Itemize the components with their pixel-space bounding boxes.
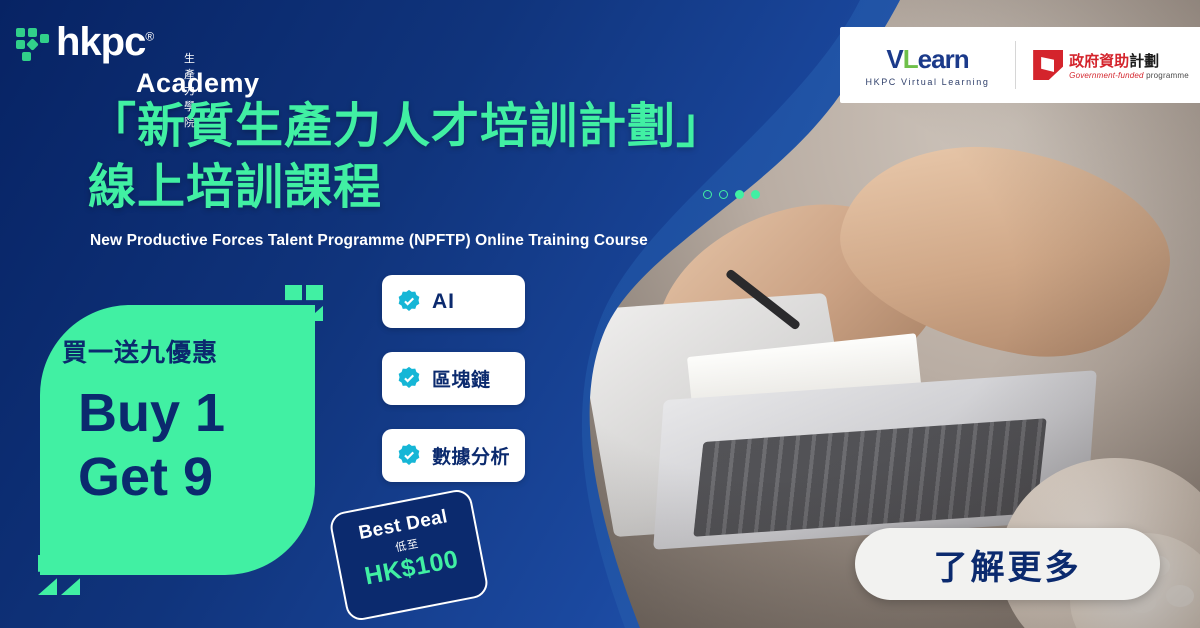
topic-pill-blockchain[interactable]: 區塊鏈 [382,352,525,405]
check-badge-icon [396,289,422,315]
vlearn-badge: VLearn HKPC Virtual Learning [840,44,1015,87]
topic-pill-data-analytics[interactable]: 數據分析 [382,429,525,482]
check-badge-icon [396,366,422,392]
government-funded-text: 政府資助計劃 Government-funded programme [1069,50,1189,80]
hkpc-logo-mark-icon [16,28,50,62]
government-funded-badge-icon [1033,50,1063,80]
seal-text: Best Deal 低至 HK$100 [328,487,490,622]
gov-zh-dark: 計劃 [1129,53,1159,70]
vlearn-title-hook: L [903,44,918,74]
chevron-decoration-bottom-icon [38,555,80,595]
topic-pill-label: AI [432,290,455,314]
promo-banner: hkpc® Academy 生產力學院 VLearn HKPC Virtual … [0,0,1200,628]
topic-pill-label: 區塊鏈 [432,365,491,392]
dot-solid [751,190,760,199]
best-deal-seal: Best Deal 低至 HK$100 [337,500,481,610]
hkpc-wordmark-text: hkpc [56,20,145,64]
topic-pill-label: 數據分析 [432,442,510,469]
headline-line-1: 「新質生產力人才培訓計劃」 [88,100,725,153]
vlearn-title-post: earn [918,44,969,74]
government-funded-badge: 政府資助計劃 Government-funded programme [1016,50,1200,80]
subtitle: New Productive Forces Talent Programme (… [90,232,648,250]
learn-more-button[interactable]: 了解更多 [855,528,1160,600]
dot-solid [735,190,744,199]
offer-en-line-2: Get 9 [78,447,213,507]
offer-zh-label: 買一送九優惠 [62,333,218,369]
decorative-dots [703,190,760,199]
vlearn-title-pre: V [886,44,902,74]
dot-hollow [719,190,728,199]
government-funded-zh: 政府資助計劃 [1069,50,1189,71]
gov-en-rest: programme [1146,71,1189,80]
chevron-decoration-top-icon [285,285,323,321]
partner-badges: VLearn HKPC Virtual Learning 政府資助計劃 Gove… [840,27,1200,103]
headline-line-2: 線上培訓課程 [88,157,725,218]
government-funded-en: Government-funded programme [1069,71,1189,80]
check-badge-icon [396,443,422,469]
dot-hollow [703,190,712,199]
registered-mark: ® [145,30,153,44]
topic-pill-list: AI 區塊鏈 數據分析 [382,275,525,482]
topic-pill-ai[interactable]: AI [382,275,525,328]
hkpc-wordmark: hkpc® [56,22,153,62]
hkpc-academy-logo: hkpc® Academy 生產力學院 [16,22,153,62]
gov-en-italic: Government-funded [1069,71,1144,80]
offer-en-label: Buy 1 Get 9 [78,382,225,509]
offer-en-line-1: Buy 1 [78,383,225,443]
learn-more-label: 了解更多 [934,540,1082,589]
vlearn-subtitle: HKPC Virtual Learning [840,77,1015,87]
page-title: 「新質生產力人才培訓計劃」 線上培訓課程 [88,96,725,219]
gov-zh-red: 政府資助 [1069,53,1129,70]
vlearn-title: VLearn [886,44,968,75]
academy-label: Academy [136,68,260,99]
